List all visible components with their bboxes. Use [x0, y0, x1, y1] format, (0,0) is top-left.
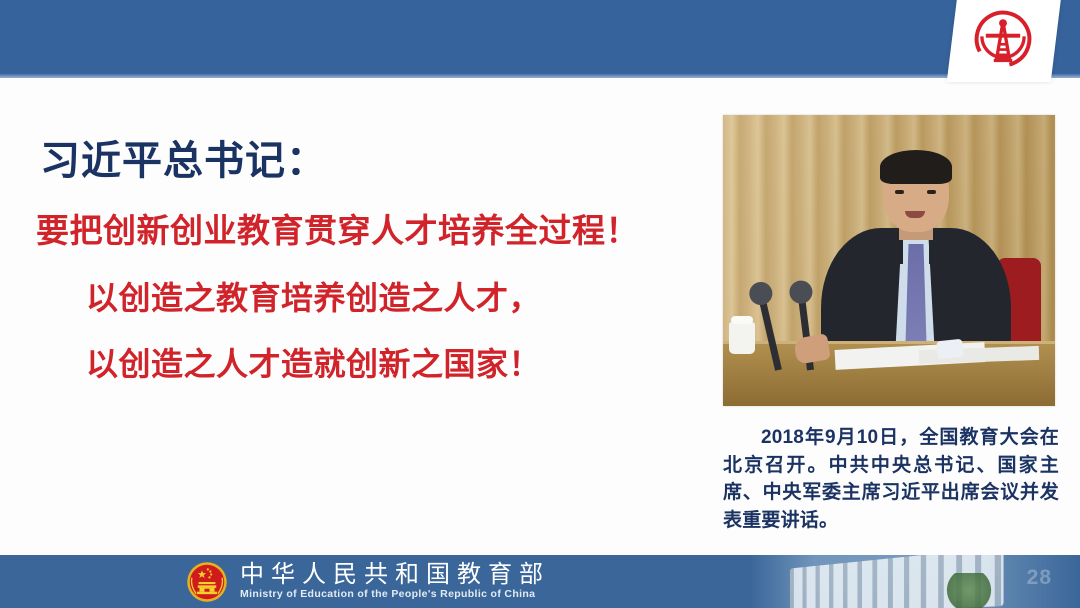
quote-attribution: 习近平总书记： — [40, 138, 712, 185]
tianjin-university-logo — [966, 4, 1040, 74]
quote-text-block: 习近平总书记： 要把创新创业教育贯穿人才培养全过程！ 以创造之教育培养创造之人才… — [32, 138, 712, 384]
photo-speaker-figure — [821, 164, 1011, 360]
photo-eye-right — [927, 190, 936, 194]
presentation-slide: 习近平总书记： 要把创新创业教育贯穿人才培养全过程！ 以创造之教育培养创造之人才… — [0, 0, 1080, 608]
footer-branding: 中华人民共和国教育部 Ministry of Education of the … — [186, 555, 550, 608]
photo-eye-left — [895, 190, 904, 194]
footer-tree-shape — [946, 573, 992, 608]
quote-line-3: 以创造之人才造就创新之国家！ — [86, 345, 712, 383]
quote-line-1: 要把创新创业教育贯穿人才培养全过程！ — [36, 211, 712, 251]
quote-line-2: 以创造之教育培养创造之人才， — [86, 279, 712, 317]
national-emblem-of-china — [186, 561, 228, 603]
footer-band: 中华人民共和国教育部 Ministry of Education of the … — [0, 555, 1080, 608]
footer-title-group: 中华人民共和国教育部 Ministry of Education of the … — [240, 563, 550, 600]
xi-jinping-speech-photo — [723, 115, 1055, 406]
caption-text: 2018年9月10日，全国教育大会在北京召开。中共中央总书记、国家主席、中央军委… — [723, 427, 1059, 531]
footer-title-chinese: 中华人民共和国教育部 — [240, 563, 550, 588]
header-band-edge — [0, 74, 1080, 78]
photo-caption: 2018年9月10日，全国教育大会在北京召开。中共中央总书记、国家主席、中央军委… — [723, 424, 1059, 534]
footer-title-english: Ministry of Education of the People's Re… — [240, 589, 550, 600]
photo-hair — [880, 150, 952, 184]
header-band — [0, 0, 1080, 78]
photo-teacup — [729, 322, 755, 354]
photo-shirt-cuff — [936, 339, 964, 360]
page-number: 28 — [1027, 566, 1052, 590]
